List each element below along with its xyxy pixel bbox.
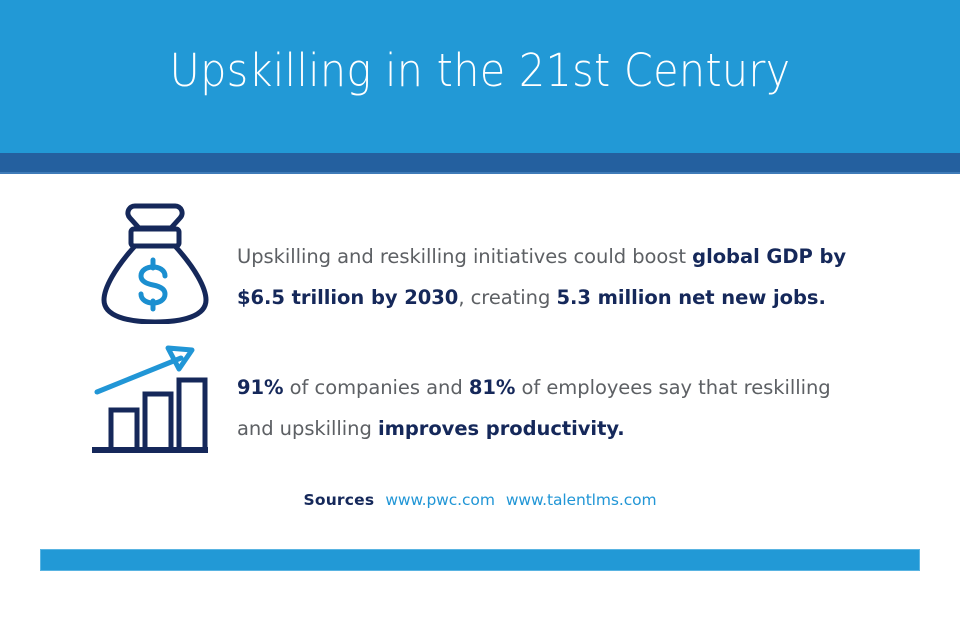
header-accent-stripe-edge <box>0 172 960 174</box>
sources-line: Sourceswww.pwc.comwww.talentlms.com <box>0 491 960 509</box>
fact-gdp-seg-2: , creating <box>458 286 556 309</box>
fact-prod-seg-1: of companies and <box>284 376 469 399</box>
source-link-pwc[interactable]: www.pwc.com <box>385 491 495 509</box>
fact-row-productivity <box>85 340 215 460</box>
source-link-talentlms[interactable]: www.talentlms.com <box>506 491 657 509</box>
growth-bar-chart-icon <box>85 340 215 460</box>
fact-gdp-seg-3: 5.3 million net new jobs. <box>556 286 825 309</box>
footer-accent-bar <box>40 549 920 571</box>
fact-row-gdp <box>90 196 220 324</box>
fact-gdp-seg-0: Upskilling and reskilling initiatives co… <box>237 245 692 268</box>
money-bag-icon <box>90 196 220 324</box>
fact-text-gdp: Upskilling and reskilling initiatives co… <box>237 236 857 318</box>
fact-prod-seg-0: 91% <box>237 376 284 399</box>
header-accent-stripe <box>0 153 960 172</box>
fact-prod-seg-2: 81% <box>469 376 516 399</box>
page-title: Upskilling in the 21st Century <box>38 44 921 97</box>
fact-prod-seg-4: improves productivity. <box>378 417 625 440</box>
infographic-slide: Upskilling in the 21st Century Upskillin… <box>0 0 960 620</box>
sources-label: Sources <box>303 491 374 509</box>
fact-text-productivity: 91% of companies and 81% of employees sa… <box>237 367 857 449</box>
